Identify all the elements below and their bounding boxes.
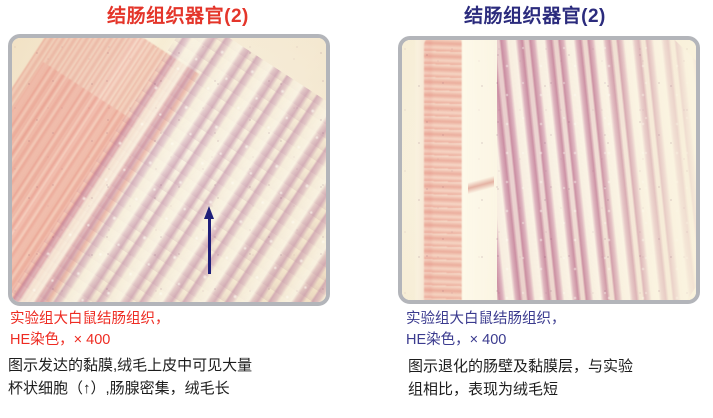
panel-left-caption-highlight: 实验组大白鼠结肠组织， HE染色，× 400 xyxy=(10,309,350,351)
nuclei-speckle-right xyxy=(402,40,696,300)
panel-right-title: 结肠组织器官(2) xyxy=(357,5,713,29)
arrow-shaft xyxy=(208,216,211,274)
panel-left-caption-body: 图示发达的黏膜,绒毛上皮中可见大量 杯状细胞（↑）,肠腺密集，绒毛长 xyxy=(8,354,356,400)
panel-left-title: 结肠组织器官(2) xyxy=(0,5,356,29)
micrograph-image-right xyxy=(402,40,696,300)
micrograph-frame-left[interactable] xyxy=(8,34,330,306)
panel-right-caption-highlight: 实验组大白鼠结肠组织， HE染色，× 400 xyxy=(406,309,706,351)
panel-left: 结肠组织器官(2) 实验组大白鼠结肠组织， HE染色，× 400 图示发达的黏膜… xyxy=(0,0,356,418)
comparison-figure-page: 结肠组织器官(2) 实验组大白鼠结肠组织， HE染色，× 400 图示发达的黏膜… xyxy=(0,0,713,418)
micrograph-image-left xyxy=(12,38,326,302)
micrograph-frame-right[interactable] xyxy=(398,36,700,304)
nuclei-speckle-left xyxy=(12,38,326,302)
goblet-cell-arrow-icon xyxy=(201,206,217,274)
panel-right: 结肠组织器官(2) 实验组大白鼠结肠组织， HE染色，× 400 图示退化的肠壁… xyxy=(357,0,713,418)
panel-right-caption-body: 图示退化的肠壁及黏膜层，与实验 组相比，表现为绒毛短 xyxy=(408,355,708,401)
